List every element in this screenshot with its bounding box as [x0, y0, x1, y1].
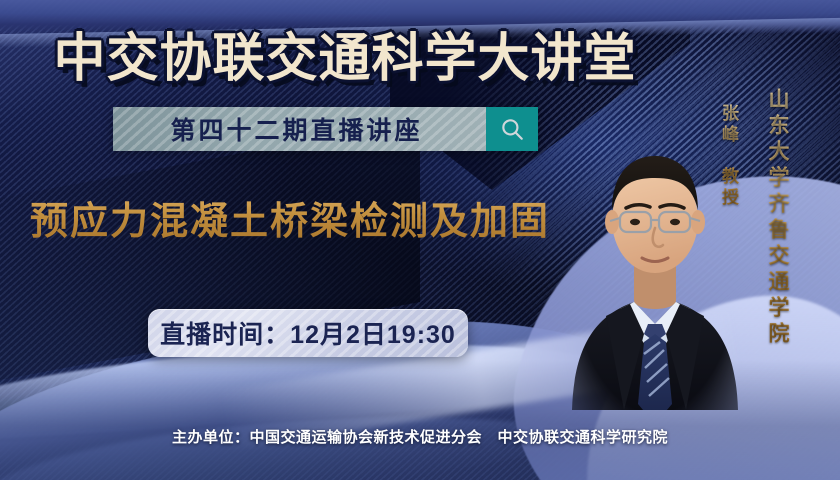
search-icon: [499, 116, 525, 142]
search-icon-box[interactable]: [486, 107, 538, 151]
speaker-name: 张峰 教授: [716, 104, 741, 209]
organizer-footer: 主办单位：中国交通运输协会新技术促进分会 中交协联交通科学研究院: [0, 426, 840, 447]
episode-banner: 第四十二期直播讲座: [113, 107, 538, 151]
poster-canvas: 中交协联交通科学大讲堂 第四十二期直播讲座 预应力混凝土桥梁检测及加固 直播时间…: [0, 0, 840, 480]
lecture-topic: 预应力混凝土桥梁检测及加固: [0, 190, 580, 245]
live-time-text: 直播时间：12月2日19:30: [160, 315, 456, 351]
speaker-affiliation: 山东大学齐鲁交通学院: [762, 88, 792, 348]
episode-banner-body: 第四十二期直播讲座: [113, 107, 486, 151]
live-time-badge: 直播时间：12月2日19:30: [148, 309, 468, 357]
episode-label: 第四十二期直播讲座: [170, 111, 428, 147]
page-title: 中交协联交通科学大讲堂: [0, 16, 690, 91]
